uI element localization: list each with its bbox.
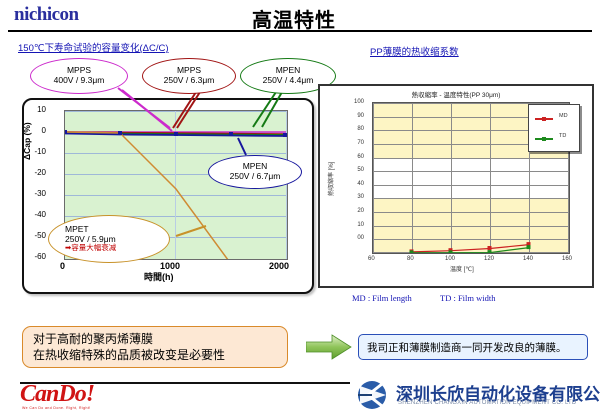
left-ytick: -40 <box>22 210 46 219</box>
legend-marker <box>542 117 546 121</box>
legend-label: MD <box>559 113 568 119</box>
callout-mpps-400v: MPPS 400V / 9.3μm <box>30 58 128 94</box>
cando-tagline: We Can Do and Done. Right, Right! <box>22 406 91 410</box>
conclusion-left-line1: 对于高耐的聚丙烯薄膜 <box>33 331 287 347</box>
callout-mpps-250v: MPPS 250V / 6.3μm <box>142 58 236 94</box>
right-ytick: 60 <box>338 154 364 160</box>
right-y-axis-label: 熱収縮率 [%] <box>326 162 335 196</box>
right-ytick: 00 <box>338 235 364 241</box>
conclusion-box-left: 对于高耐的聚丙烯薄膜 在热收缩特殊的品质被改变是必要性 <box>22 326 288 368</box>
callout-mpen-67um: MPEN 250V / 6.7μm <box>208 155 302 189</box>
right-ytick: 90 <box>338 113 364 119</box>
left-xtick: 0 <box>60 261 65 271</box>
left-y-axis-label: ΔCap (%) <box>22 122 32 160</box>
right-xtick: 160 <box>562 256 572 262</box>
conclusion-right-text: 我司正和薄膜制造商一同开发改良的薄膜。 <box>367 340 567 355</box>
legend-marker <box>542 137 546 141</box>
left-ytick: -50 <box>22 231 46 240</box>
left-ytick: -30 <box>22 189 46 198</box>
md-definition-note: MD : Film length <box>352 293 412 303</box>
right-ytick: 50 <box>338 167 364 173</box>
left-ytick: 10 <box>22 105 46 114</box>
right-ytick: 30 <box>338 194 364 200</box>
callout-spec: 250V / 6.3μm <box>164 76 215 86</box>
green-arrow-icon <box>306 334 352 360</box>
right-xtick: 80 <box>407 256 414 262</box>
page-title: 高温特性 <box>252 4 336 33</box>
right-xtick: 60 <box>368 256 375 262</box>
left-xtick: 2000 <box>269 261 289 271</box>
right-ytick: 80 <box>338 126 364 132</box>
legend-label: TD <box>559 133 566 139</box>
right-x-axis-label: 温度 [℃] <box>450 264 474 273</box>
right-ytick: 20 <box>338 208 364 214</box>
right-ytick: 10 <box>338 222 364 228</box>
right-section-caption: PP薄膜的热收缩系数 <box>370 44 459 58</box>
slide-page: nichicon 高温特性 150℃下寿命试验的容量变化(ΔC/C) PP薄膜的… <box>0 0 600 415</box>
left-x-axis-label: 時間(h) <box>144 270 174 283</box>
header-divider <box>8 30 592 32</box>
right-ytick: 40 <box>338 181 364 187</box>
nichicon-logo: nichicon <box>14 4 79 26</box>
changxin-logo-icon <box>352 380 392 410</box>
company-name-en: SHENZHEN CHANGXIN AUTOMATION EQUIPMENT C… <box>398 400 576 406</box>
callout-spec: 250V / 6.7μm <box>230 172 281 182</box>
left-ytick: -20 <box>22 168 46 177</box>
callout-spec: 400V / 9.3μm <box>54 76 105 86</box>
left-chart-panel: 10 0 -10 -20 -30 -40 -50 -60 0 1000 2000… <box>22 98 314 294</box>
right-xtick: 140 <box>523 256 533 262</box>
cando-logo: CanDo! <box>20 381 94 408</box>
right-chart-panel: 熱収縮率 - 温度特性(PP 30μm) <box>318 84 594 288</box>
conclusion-left-line2: 在热收缩特殊的品质被改变是必要性 <box>33 347 287 363</box>
right-ytick: 70 <box>338 140 364 146</box>
right-chart-title: 熱収縮率 - 温度特性(PP 30μm) <box>320 89 592 99</box>
left-section-caption: 150℃下寿命试验的容量变化(ΔC/C) <box>18 40 169 54</box>
left-ytick: -60 <box>22 252 46 261</box>
callout-note: ➡容量大幅衰减 <box>65 244 116 253</box>
callout-spec: 250V / 4.4μm <box>263 76 314 86</box>
callout-mpet: MPET 250V / 5.9μm ➡容量大幅衰减 <box>48 215 170 263</box>
td-definition-note: TD : Film width <box>440 293 496 303</box>
right-xtick: 100 <box>445 256 455 262</box>
right-chart-legend: MD TD <box>528 104 580 152</box>
conclusion-box-right: 我司正和薄膜制造商一同开发改良的薄膜。 <box>358 334 588 360</box>
right-xtick: 120 <box>484 256 494 262</box>
right-ytick: 100 <box>338 99 364 105</box>
